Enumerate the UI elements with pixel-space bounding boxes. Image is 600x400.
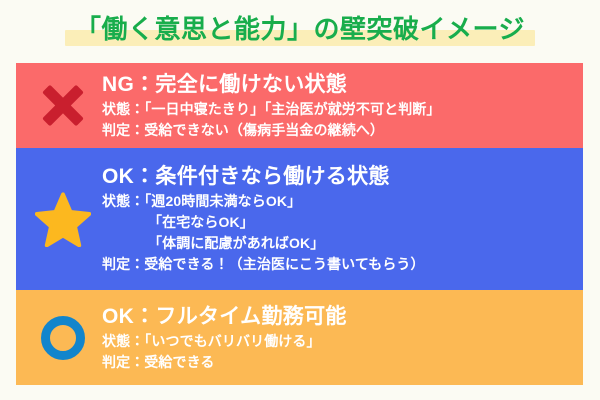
card-ok-fulltime-heading: OK：フルタイム勤務可能 <box>102 303 573 330</box>
card-ok-conditional-line-judgment: 判定：受給できる！（主治医にこう書いてもらう） <box>102 254 573 275</box>
card-ng: NG：完全に働けない状態 状態：「一日中寝たきり」「主治医が就労不可と判断」 判… <box>16 63 583 148</box>
star-icon <box>35 191 91 247</box>
circle-ring-icon <box>41 316 85 360</box>
card-ng-icon-cell <box>24 69 102 142</box>
card-ok-conditional-line-status-2: 「在宅ならOK」 <box>102 212 573 233</box>
card-ok-fulltime-icon-cell <box>24 296 102 379</box>
card-ok-conditional-line-status: 状態：「週20時間未満ならOK」 <box>102 191 573 212</box>
card-ok-conditional-text: OK：条件付きなら働ける状態 状態：「週20時間未満ならOK」 「在宅ならOK」… <box>102 163 573 275</box>
card-ok-fulltime-text: OK：フルタイム勤務可能 状態：「いつでもバリバリ働ける」 判定：受給できる <box>102 303 573 373</box>
card-ng-heading: NG：完全に働けない状態 <box>102 71 573 98</box>
card-ng-details: 状態：「一日中寝たきり」「主治医が就労不可と判断」 判定：受給できない（傷病手当… <box>102 99 573 141</box>
page-title: 「働く意思と能力」の壁突破イメージ <box>0 6 600 52</box>
card-ok-conditional-heading: OK：条件付きなら働ける状態 <box>102 163 573 190</box>
page-title-text: 「働く意思と能力」の壁突破イメージ <box>75 11 525 47</box>
card-ok-conditional: OK：条件付きなら働ける状態 状態：「週20時間未満ならOK」 「在宅ならOK」… <box>16 148 583 290</box>
card-ok-fulltime: OK：フルタイム勤務可能 状態：「いつでもバリバリ働ける」 判定：受給できる <box>16 290 583 385</box>
card-ok-conditional-details: 状態：「週20時間未満ならOK」 「在宅ならOK」 「体調に配慮があればOK」 … <box>102 191 573 275</box>
card-list: NG：完全に働けない状態 状態：「一日中寝たきり」「主治医が就労不可と判断」 判… <box>16 63 583 385</box>
card-ok-fulltime-line-status: 状態：「いつでもバリバリ働ける」 <box>102 331 573 352</box>
card-ok-fulltime-line-judgment: 判定：受給できる <box>102 352 573 373</box>
card-ok-fulltime-details: 状態：「いつでもバリバリ働ける」 判定：受給できる <box>102 331 573 373</box>
card-ok-conditional-icon-cell <box>24 154 102 284</box>
card-ng-line-status: 状態：「一日中寝たきり」「主治医が就労不可と判断」 <box>102 99 573 120</box>
card-ok-conditional-line-status-3: 「体調に配慮があればOK」 <box>102 233 573 254</box>
page-title-inner: 「働く意思と能力」の壁突破イメージ <box>69 11 531 47</box>
card-ng-line-judgment: 判定：受給できない（傷病手当金の継続へ） <box>102 120 573 141</box>
x-mark-icon <box>41 84 85 128</box>
card-ng-text: NG：完全に働けない状態 状態：「一日中寝たきり」「主治医が就労不可と判断」 判… <box>102 71 573 141</box>
infographic-page: 「働く意思と能力」の壁突破イメージ NG：完全に働けない状態 状態：「一日中寝た… <box>0 0 600 400</box>
